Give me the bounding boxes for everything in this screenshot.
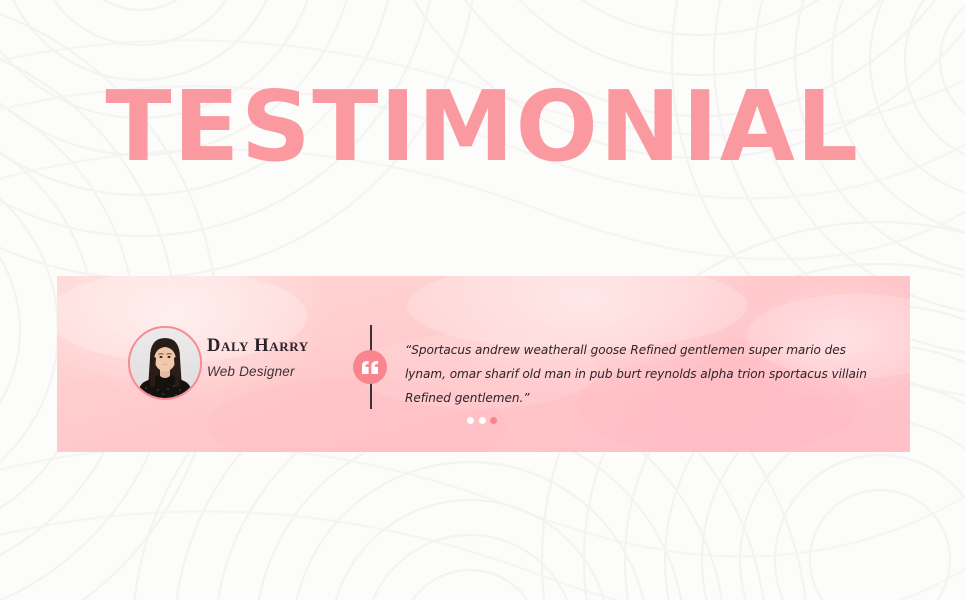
avatar	[128, 326, 202, 400]
testimonial-card: Daly Harry Web Designer “Sportacus andre…	[57, 276, 910, 452]
testimonial-quote: “Sportacus andrew weatherall goose Refin…	[405, 338, 875, 411]
avatar-photo	[130, 328, 200, 398]
page-title: TESTIMONIAL	[0, 78, 965, 175]
pagination-dot-3[interactable]	[490, 417, 497, 424]
pagination-dots[interactable]	[467, 417, 497, 424]
quote-mark-icon	[353, 350, 387, 384]
pagination-dot-2[interactable]	[479, 417, 486, 424]
pagination-dot-1[interactable]	[467, 417, 474, 424]
